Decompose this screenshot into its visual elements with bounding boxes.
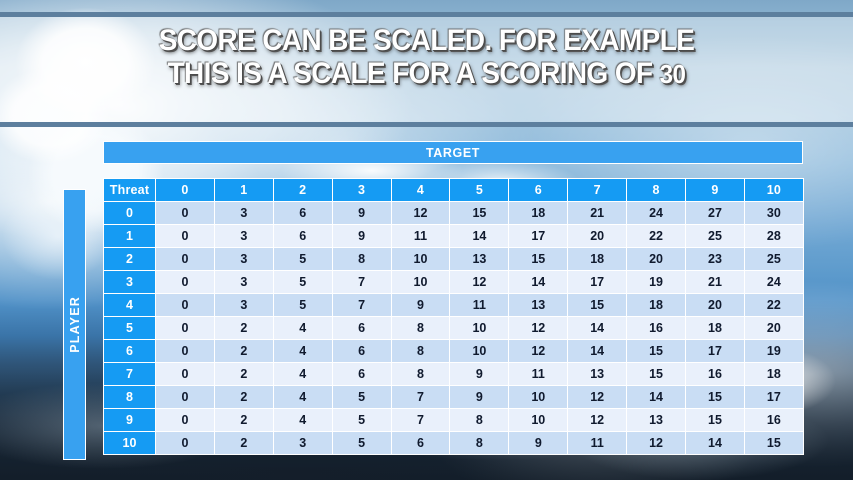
table-row: 502468101214161820	[104, 317, 804, 340]
table-row: 1036911141720222528	[104, 225, 804, 248]
cell-p9-t0: 0	[156, 409, 215, 432]
cell-p6-t0: 0	[156, 340, 215, 363]
cell-p1-t7: 20	[568, 225, 627, 248]
row-header-9: 9	[104, 409, 156, 432]
cell-p0-t3: 9	[332, 202, 391, 225]
cell-p3-t1: 3	[214, 271, 273, 294]
cell-p8-t2: 4	[273, 386, 332, 409]
cell-p9-t5: 8	[450, 409, 509, 432]
cell-p5-t8: 16	[627, 317, 686, 340]
row-header-1: 1	[104, 225, 156, 248]
cell-p6-t2: 4	[273, 340, 332, 363]
column-header-6: 6	[509, 179, 568, 202]
cell-p5-t6: 12	[509, 317, 568, 340]
target-axis-text: TARGET	[426, 146, 480, 160]
cell-p0-t0: 0	[156, 202, 215, 225]
cell-p6-t7: 14	[568, 340, 627, 363]
cell-p9-t6: 10	[509, 409, 568, 432]
cell-p2-t9: 23	[686, 248, 745, 271]
cell-p0-t1: 3	[214, 202, 273, 225]
column-header-10: 10	[744, 179, 803, 202]
cell-p0-t9: 27	[686, 202, 745, 225]
table-row: 3035710121417192124	[104, 271, 804, 294]
cell-p6-t10: 19	[744, 340, 803, 363]
cell-p5-t2: 4	[273, 317, 332, 340]
cell-p4-t1: 3	[214, 294, 273, 317]
cell-p2-t1: 3	[214, 248, 273, 271]
cell-p1-t1: 3	[214, 225, 273, 248]
cell-p10-t2: 3	[273, 432, 332, 455]
table-header: Threat 012345678910	[104, 179, 804, 202]
table-row: 2035810131518202325	[104, 248, 804, 271]
cell-p5-t4: 8	[391, 317, 450, 340]
cell-p10-t1: 2	[214, 432, 273, 455]
cell-p10-t10: 15	[744, 432, 803, 455]
cell-p3-t9: 21	[686, 271, 745, 294]
table-row: 602468101214151719	[104, 340, 804, 363]
slide-canvas: SCORE CAN BE SCALED. FOR EXAMPLE THIS IS…	[0, 0, 853, 480]
row-header-4: 4	[104, 294, 156, 317]
target-axis-label: TARGET	[103, 141, 803, 164]
cell-p9-t9: 15	[686, 409, 745, 432]
cell-p10-t5: 8	[450, 432, 509, 455]
cell-p2-t3: 8	[332, 248, 391, 271]
cell-p8-t5: 9	[450, 386, 509, 409]
table-row: 90245781012131516	[104, 409, 804, 432]
row-header-10: 10	[104, 432, 156, 455]
player-axis-label: PLAYER	[63, 189, 86, 460]
column-header-0: 0	[156, 179, 215, 202]
column-header-4: 4	[391, 179, 450, 202]
row-header-6: 6	[104, 340, 156, 363]
cell-p3-t2: 5	[273, 271, 332, 294]
cell-p7-t2: 4	[273, 363, 332, 386]
cell-p2-t2: 5	[273, 248, 332, 271]
cell-p2-t6: 15	[509, 248, 568, 271]
cell-p9-t3: 5	[332, 409, 391, 432]
cell-p6-t9: 17	[686, 340, 745, 363]
cell-p0-t2: 6	[273, 202, 332, 225]
cell-p1-t6: 17	[509, 225, 568, 248]
cell-p7-t9: 16	[686, 363, 745, 386]
column-header-5: 5	[450, 179, 509, 202]
cell-p8-t3: 5	[332, 386, 391, 409]
cell-p3-t5: 12	[450, 271, 509, 294]
row-header-2: 2	[104, 248, 156, 271]
cell-p10-t8: 12	[627, 432, 686, 455]
cell-p1-t9: 25	[686, 225, 745, 248]
cell-p8-t7: 12	[568, 386, 627, 409]
row-header-8: 8	[104, 386, 156, 409]
table-row: 10023568911121415	[104, 432, 804, 455]
column-header-2: 2	[273, 179, 332, 202]
cell-p9-t1: 2	[214, 409, 273, 432]
table-header-row: Threat 012345678910	[104, 179, 804, 202]
cell-p7-t7: 13	[568, 363, 627, 386]
cell-p4-t5: 11	[450, 294, 509, 317]
cell-p8-t8: 14	[627, 386, 686, 409]
cell-p8-t10: 17	[744, 386, 803, 409]
cell-p2-t5: 13	[450, 248, 509, 271]
column-header-8: 8	[627, 179, 686, 202]
cell-p10-t0: 0	[156, 432, 215, 455]
cell-p3-t0: 0	[156, 271, 215, 294]
cell-p9-t7: 12	[568, 409, 627, 432]
column-header-7: 7	[568, 179, 627, 202]
cell-p4-t10: 22	[744, 294, 803, 317]
cell-p1-t8: 22	[627, 225, 686, 248]
column-header-9: 9	[686, 179, 745, 202]
cell-p8-t6: 10	[509, 386, 568, 409]
column-header-1: 1	[214, 179, 273, 202]
cell-p5-t9: 18	[686, 317, 745, 340]
table-row: 0036912151821242730	[104, 202, 804, 225]
cell-p3-t10: 24	[744, 271, 803, 294]
cell-p3-t4: 10	[391, 271, 450, 294]
cell-p6-t6: 12	[509, 340, 568, 363]
cell-p9-t10: 16	[744, 409, 803, 432]
cell-p8-t0: 0	[156, 386, 215, 409]
cell-p4-t8: 18	[627, 294, 686, 317]
cell-p0-t10: 30	[744, 202, 803, 225]
cell-p0-t6: 18	[509, 202, 568, 225]
cell-p4-t0: 0	[156, 294, 215, 317]
cell-p1-t10: 28	[744, 225, 803, 248]
cell-p2-t10: 25	[744, 248, 803, 271]
cell-p2-t4: 10	[391, 248, 450, 271]
cell-p0-t5: 15	[450, 202, 509, 225]
cell-p2-t7: 18	[568, 248, 627, 271]
cell-p5-t1: 2	[214, 317, 273, 340]
cell-p0-t7: 21	[568, 202, 627, 225]
cell-p9-t8: 13	[627, 409, 686, 432]
cell-p10-t9: 14	[686, 432, 745, 455]
cell-p6-t1: 2	[214, 340, 273, 363]
cell-p7-t10: 18	[744, 363, 803, 386]
cell-p3-t3: 7	[332, 271, 391, 294]
cell-p9-t4: 7	[391, 409, 450, 432]
cell-p5-t3: 6	[332, 317, 391, 340]
cell-p3-t6: 14	[509, 271, 568, 294]
cell-p7-t6: 11	[509, 363, 568, 386]
cell-p7-t4: 8	[391, 363, 450, 386]
cell-p6-t4: 8	[391, 340, 450, 363]
cell-p8-t1: 2	[214, 386, 273, 409]
table-row: 70246891113151618	[104, 363, 804, 386]
cell-p2-t8: 20	[627, 248, 686, 271]
score-scale-table: Threat 012345678910 00369121518212427301…	[103, 178, 804, 455]
cell-p4-t4: 9	[391, 294, 450, 317]
cell-p1-t2: 6	[273, 225, 332, 248]
cell-p1-t3: 9	[332, 225, 391, 248]
cell-p2-t0: 0	[156, 248, 215, 271]
cell-p8-t4: 7	[391, 386, 450, 409]
table-row: 403579111315182022	[104, 294, 804, 317]
cell-p1-t5: 14	[450, 225, 509, 248]
cell-p4-t9: 20	[686, 294, 745, 317]
table-body: 0036912151821242730103691114172022252820…	[104, 202, 804, 455]
cell-p3-t8: 19	[627, 271, 686, 294]
cell-p10-t6: 9	[509, 432, 568, 455]
cell-p5-t5: 10	[450, 317, 509, 340]
cell-p10-t4: 6	[391, 432, 450, 455]
cell-p7-t5: 9	[450, 363, 509, 386]
table-row: 80245791012141517	[104, 386, 804, 409]
cell-p6-t5: 10	[450, 340, 509, 363]
cell-p4-t3: 7	[332, 294, 391, 317]
cell-p6-t8: 15	[627, 340, 686, 363]
cell-p1-t4: 11	[391, 225, 450, 248]
column-header-3: 3	[332, 179, 391, 202]
row-header-3: 3	[104, 271, 156, 294]
cell-p5-t0: 0	[156, 317, 215, 340]
cell-p7-t0: 0	[156, 363, 215, 386]
cell-p6-t3: 6	[332, 340, 391, 363]
row-header-7: 7	[104, 363, 156, 386]
cell-p4-t6: 13	[509, 294, 568, 317]
row-header-0: 0	[104, 202, 156, 225]
player-axis-text: PLAYER	[68, 296, 82, 353]
cell-p0-t8: 24	[627, 202, 686, 225]
cell-p3-t7: 17	[568, 271, 627, 294]
cell-p7-t3: 6	[332, 363, 391, 386]
cell-p5-t10: 20	[744, 317, 803, 340]
cell-p4-t7: 15	[568, 294, 627, 317]
row-header-5: 5	[104, 317, 156, 340]
cell-p0-t4: 12	[391, 202, 450, 225]
cell-p5-t7: 14	[568, 317, 627, 340]
cell-p8-t9: 15	[686, 386, 745, 409]
cell-p10-t3: 5	[332, 432, 391, 455]
cell-p4-t2: 5	[273, 294, 332, 317]
threat-corner-header: Threat	[104, 179, 156, 202]
cell-p7-t1: 2	[214, 363, 273, 386]
cell-p10-t7: 11	[568, 432, 627, 455]
cell-p1-t0: 0	[156, 225, 215, 248]
cell-p7-t8: 15	[627, 363, 686, 386]
cell-p9-t2: 4	[273, 409, 332, 432]
